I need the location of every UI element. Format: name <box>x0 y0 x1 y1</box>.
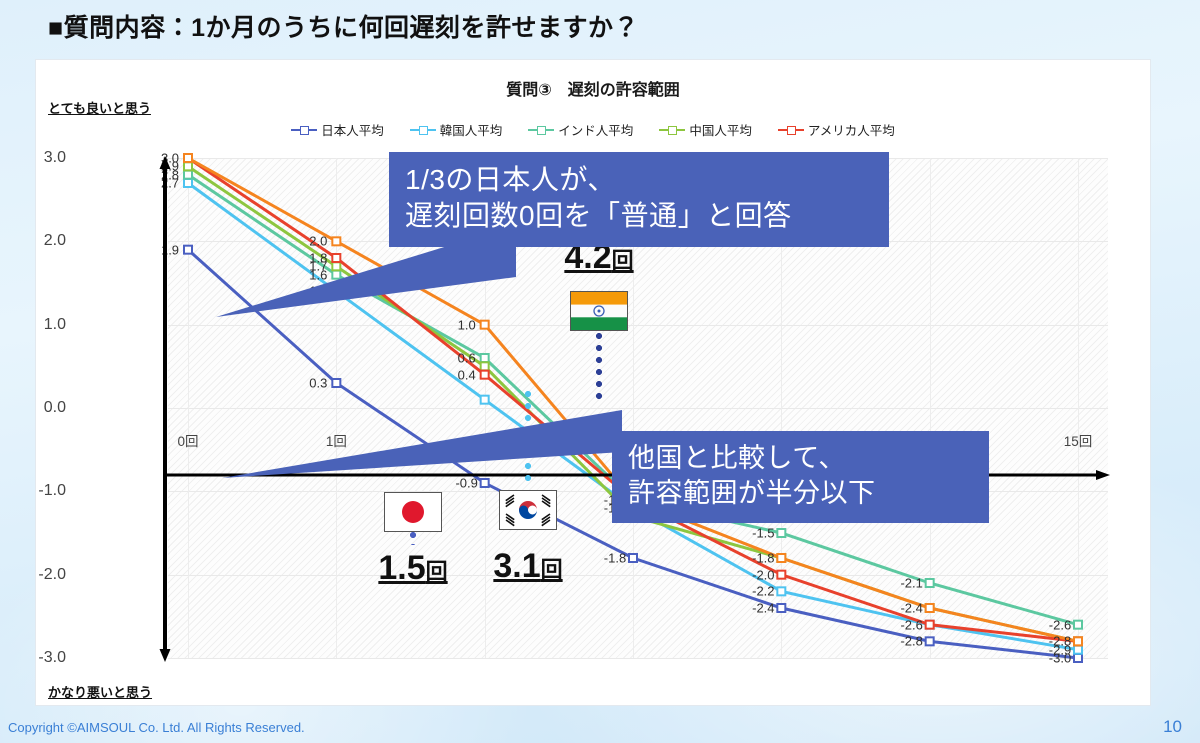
point-value-label: -2.0 <box>752 567 774 582</box>
point-value-label: 2.0 <box>309 234 327 249</box>
series-marker <box>777 587 785 595</box>
point-value-label: -2.2 <box>752 584 774 599</box>
callout-two: 他国と比較して、 許容範囲が半分以下 <box>612 431 989 523</box>
series-marker <box>1074 621 1082 629</box>
flag-value-japan-number: 1.5 <box>378 549 425 587</box>
legend-label: 韓国人平均 <box>440 120 503 139</box>
flag-value-india-unit: 回 <box>612 248 634 273</box>
gridline-horizontal <box>168 658 1108 659</box>
series-marker <box>1074 646 1082 654</box>
legend-item-0[interactable]: 日本人平均 <box>291 120 384 139</box>
series-marker <box>481 396 489 404</box>
series-marker <box>481 321 489 329</box>
point-value-label: -2.4 <box>900 601 922 616</box>
page-title: ■質問内容：1か月のうちに何回遅刻を許せますか？ <box>48 8 639 44</box>
x-tick-label: 0回 <box>177 430 198 450</box>
flag-value-japan-unit: 回 <box>426 559 448 584</box>
legend-item-4[interactable]: アメリカ人平均 <box>778 120 895 139</box>
chart-legend: 日本人平均韓国人平均インド人平均中国人平均アメリカ人平均 <box>36 120 1150 139</box>
series-marker <box>777 571 785 579</box>
series-marker <box>481 362 489 370</box>
point-value-label: -2.6 <box>1049 617 1071 632</box>
y-tick-label: -1.0 <box>0 482 66 500</box>
callout-one: 1/3の日本人が、 遅刻回数0回を「普通」と回答 <box>389 152 889 247</box>
point-value-label: -1.8 <box>604 551 626 566</box>
flag-value-korea-number: 3.1 <box>493 547 540 585</box>
series-marker <box>777 604 785 612</box>
x-tick-label: 3回 <box>474 430 495 450</box>
flag-india <box>570 291 628 331</box>
legend-label: 日本人平均 <box>321 120 384 139</box>
legend-marker-icon <box>291 125 317 135</box>
callout-two-line-2: 許容範囲が半分以下 <box>628 476 973 511</box>
series-marker <box>926 604 934 612</box>
flag-value-korea-unit: 回 <box>541 557 563 582</box>
x-tick-label: 15回 <box>1064 430 1093 450</box>
point-value-label: -2.4 <box>752 601 774 616</box>
point-value-label: -2.8 <box>900 634 922 649</box>
series-marker <box>184 246 192 254</box>
legend-label: 中国人平均 <box>689 120 752 139</box>
point-value-label: -2.1 <box>900 576 922 591</box>
series-marker <box>777 529 785 537</box>
x-tick-label: 1回 <box>326 430 347 450</box>
series-marker <box>332 237 340 245</box>
flag-value-korea: 3.1回 <box>493 547 562 586</box>
y-tick-label: -2.0 <box>0 566 66 584</box>
leader-line-korea <box>525 388 532 484</box>
y-axis-arrow <box>158 156 172 662</box>
legend-marker-icon <box>659 125 685 135</box>
callout-one-line-2: 遅刻回数0回を「普通」と回答 <box>405 198 873 234</box>
chart-title: 質問③ 遅刻の許容範囲 <box>36 76 1150 100</box>
page-number: 10 <box>1163 717 1182 737</box>
point-value-label: 1.6 <box>309 267 327 282</box>
point-value-label: 1.4 <box>309 284 327 299</box>
series-marker <box>777 554 785 562</box>
series-marker <box>481 371 489 379</box>
point-value-label: 0.3 <box>309 376 327 391</box>
series-marker <box>332 287 340 295</box>
y-tick-label: 3.0 <box>0 149 66 167</box>
slide-footer: Copyright ©AIMSOUL Co. Ltd. All Rights R… <box>0 707 1200 743</box>
flag-value-japan: 1.5回 <box>378 549 447 588</box>
y-tick-label: 0.0 <box>0 399 66 417</box>
legend-marker-icon <box>410 125 436 135</box>
series-marker <box>184 179 192 187</box>
legend-marker-icon <box>778 125 804 135</box>
point-value-label: -1.8 <box>752 551 774 566</box>
series-marker <box>332 254 340 262</box>
axis-caption-top: とても良いと思う <box>48 98 151 117</box>
y-tick-label: 1.0 <box>0 316 66 334</box>
chart-card: 質問③ 遅刻の許容範囲 とても良いと思う かなり悪いと思う 日本人平均韓国人平均… <box>36 60 1150 705</box>
series-marker <box>332 379 340 387</box>
series-marker <box>184 162 192 170</box>
series-marker <box>926 579 934 587</box>
series-marker <box>926 621 934 629</box>
legend-item-1[interactable]: 韓国人平均 <box>410 120 503 139</box>
point-value-label: 1.0 <box>458 317 476 332</box>
series-marker <box>184 171 192 179</box>
y-tick-label: 2.0 <box>0 232 66 250</box>
legend-item-2[interactable]: インド人平均 <box>528 120 633 139</box>
point-value-label: -2.6 <box>900 617 922 632</box>
series-marker <box>332 262 340 270</box>
y-tick-label: -3.0 <box>0 649 66 667</box>
callout-two-line-1: 他国と比較して、 <box>628 441 973 476</box>
axis-caption-bottom: かなり悪いと思う <box>48 682 152 701</box>
point-value-label: -3.0 <box>1049 651 1071 666</box>
series-marker <box>1074 637 1082 645</box>
series-marker <box>1074 654 1082 662</box>
legend-label: インド人平均 <box>558 120 633 139</box>
series-marker <box>332 271 340 279</box>
flag-japan <box>384 492 442 532</box>
point-value-label: 0.6 <box>458 351 476 366</box>
point-value-label: -1.5 <box>752 526 774 541</box>
series-marker <box>926 637 934 645</box>
series-marker <box>184 154 192 162</box>
point-value-label: 0.4 <box>458 367 476 382</box>
series-marker <box>481 479 489 487</box>
copyright-text: Copyright ©AIMSOUL Co. Ltd. All Rights R… <box>8 720 305 735</box>
legend-label: アメリカ人平均 <box>808 120 895 139</box>
legend-marker-icon <box>528 125 554 135</box>
leader-line-india <box>596 330 603 402</box>
flag-korea <box>499 490 557 530</box>
series-marker <box>481 354 489 362</box>
series-marker <box>629 554 637 562</box>
callout-one-line-1: 1/3の日本人が、 <box>405 162 873 198</box>
legend-item-3[interactable]: 中国人平均 <box>659 120 752 139</box>
